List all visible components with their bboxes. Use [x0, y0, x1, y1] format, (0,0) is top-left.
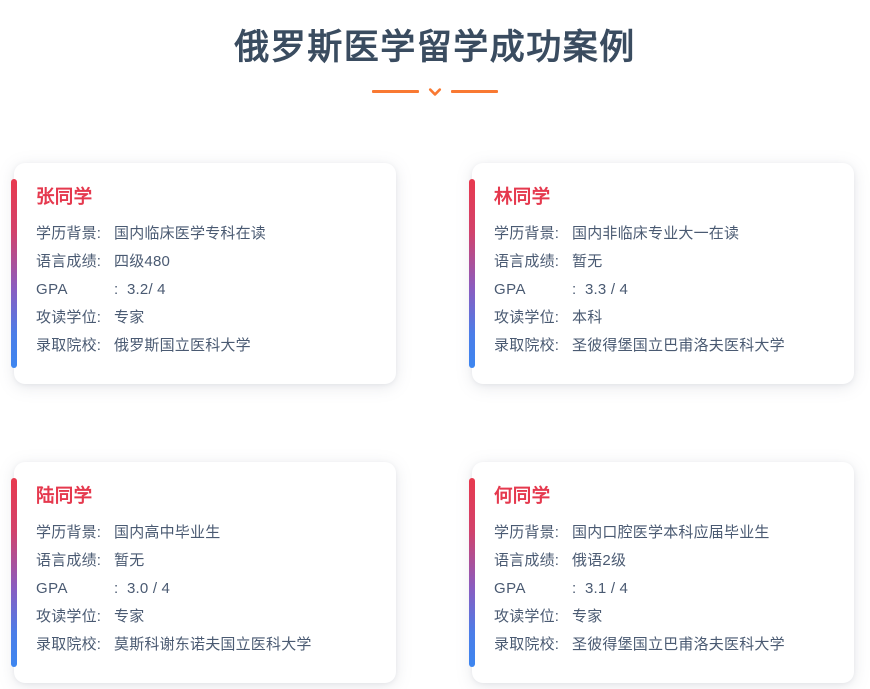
info-value-language: 暂无	[114, 547, 144, 575]
info-row-university: 录取院校: 莫斯科谢东诺夫国立医科大学	[36, 631, 376, 659]
card-accent-bar	[469, 179, 475, 368]
chevron-down-icon	[428, 85, 442, 99]
info-label-degree: 攻读学位:	[36, 304, 114, 332]
info-value-language: 四级480	[114, 248, 170, 276]
info-label-university: 录取院校:	[36, 631, 114, 659]
info-label-degree: 攻读学位:	[36, 603, 114, 631]
info-row-degree: 攻读学位: 专家	[36, 603, 376, 631]
student-name: 林同学	[494, 185, 834, 209]
info-value-gpa: 3.3 / 4	[585, 276, 628, 304]
info-row-gpa: GPA : 3.2/ 4	[36, 276, 376, 304]
divider-right-bar	[451, 90, 498, 93]
info-row-education: 学历背景: 国内口腔医学本科应届毕业生	[494, 519, 834, 547]
case-card[interactable]: 张同学 学历背景: 国内临床医学专科在读 语言成绩: 四级480 GPA : 3…	[14, 163, 396, 384]
case-card[interactable]: 陆同学 学历背景: 国内高中毕业生 语言成绩: 暂无 GPA : 3.0 / 4…	[14, 462, 396, 683]
info-row-language: 语言成绩: 俄语2级	[494, 547, 834, 575]
info-value-gpa: 3.1 / 4	[585, 575, 628, 603]
info-row-degree: 攻读学位: 本科	[494, 304, 834, 332]
info-value-education: 国内口腔医学本科应届毕业生	[572, 519, 770, 547]
info-value-degree: 专家	[114, 603, 144, 631]
info-label-degree: 攻读学位:	[494, 304, 572, 332]
student-name: 何同学	[494, 484, 834, 508]
page-root: 俄罗斯医学留学成功案例 张同学 学历背景: 国内临床医学专科在读 语言成绩:	[0, 0, 870, 689]
info-row-university: 录取院校: 圣彼得堡国立巴甫洛夫医科大学	[494, 631, 834, 659]
info-row-university: 录取院校: 圣彼得堡国立巴甫洛夫医科大学	[494, 332, 834, 360]
student-name: 陆同学	[36, 484, 376, 508]
title-divider	[0, 82, 870, 100]
case-card[interactable]: 何同学 学历背景: 国内口腔医学本科应届毕业生 语言成绩: 俄语2级 GPA :…	[472, 462, 854, 683]
info-value-university: 圣彼得堡国立巴甫洛夫医科大学	[572, 332, 785, 360]
info-row-education: 学历背景: 国内高中毕业生	[36, 519, 376, 547]
student-info-list: 学历背景: 国内临床医学专科在读 语言成绩: 四级480 GPA : 3.2/ …	[36, 220, 376, 360]
case-cards-grid: 张同学 学历背景: 国内临床医学专科在读 语言成绩: 四级480 GPA : 3…	[14, 163, 858, 683]
info-row-language: 语言成绩: 暂无	[494, 248, 834, 276]
info-colon-gpa: :	[114, 276, 127, 304]
info-value-degree: 专家	[114, 304, 144, 332]
card-accent-bar	[469, 478, 475, 667]
info-label-language: 语言成绩:	[36, 547, 114, 575]
info-label-education: 学历背景:	[36, 220, 114, 248]
card-accent-bar	[11, 478, 17, 667]
info-label-gpa: GPA	[36, 276, 114, 304]
info-row-education: 学历背景: 国内临床医学专科在读	[36, 220, 376, 248]
info-value-gpa: 3.0 / 4	[127, 575, 170, 603]
info-row-degree: 攻读学位: 专家	[494, 603, 834, 631]
info-value-language: 俄语2级	[572, 547, 626, 575]
info-label-gpa: GPA	[494, 575, 572, 603]
page-title: 俄罗斯医学留学成功案例	[0, 26, 870, 70]
info-label-university: 录取院校:	[36, 332, 114, 360]
info-value-education: 国内高中毕业生	[114, 519, 220, 547]
info-label-language: 语言成绩:	[494, 547, 572, 575]
info-value-university: 俄罗斯国立医科大学	[114, 332, 251, 360]
info-row-education: 学历背景: 国内非临床专业大一在读	[494, 220, 834, 248]
info-label-university: 录取院校:	[494, 332, 572, 360]
info-row-gpa: GPA : 3.3 / 4	[494, 276, 834, 304]
info-value-education: 国内临床医学专科在读	[114, 220, 266, 248]
info-label-degree: 攻读学位:	[494, 603, 572, 631]
info-value-education: 国内非临床专业大一在读	[572, 220, 739, 248]
info-row-language: 语言成绩: 四级480	[36, 248, 376, 276]
info-colon-gpa: :	[572, 575, 585, 603]
info-row-degree: 攻读学位: 专家	[36, 304, 376, 332]
info-value-university: 圣彼得堡国立巴甫洛夫医科大学	[572, 631, 785, 659]
info-row-gpa: GPA : 3.0 / 4	[36, 575, 376, 603]
info-label-education: 学历背景:	[494, 220, 572, 248]
info-value-degree: 本科	[572, 304, 602, 332]
student-info-list: 学历背景: 国内口腔医学本科应届毕业生 语言成绩: 俄语2级 GPA : 3.1…	[494, 519, 834, 659]
info-label-gpa: GPA	[36, 575, 114, 603]
info-row-university: 录取院校: 俄罗斯国立医科大学	[36, 332, 376, 360]
info-label-language: 语言成绩:	[494, 248, 572, 276]
info-value-language: 暂无	[572, 248, 602, 276]
page-header: 俄罗斯医学留学成功案例	[0, 0, 870, 100]
student-info-list: 学历背景: 国内非临床专业大一在读 语言成绩: 暂无 GPA : 3.3 / 4…	[494, 220, 834, 360]
info-value-university: 莫斯科谢东诺夫国立医科大学	[114, 631, 312, 659]
info-label-gpa: GPA	[494, 276, 572, 304]
info-colon-gpa: :	[114, 575, 127, 603]
info-label-university: 录取院校:	[494, 631, 572, 659]
info-label-education: 学历背景:	[494, 519, 572, 547]
card-accent-bar	[11, 179, 17, 368]
student-name: 张同学	[36, 185, 376, 209]
info-value-gpa: 3.2/ 4	[127, 276, 166, 304]
divider-left-bar	[372, 90, 419, 93]
info-row-language: 语言成绩: 暂无	[36, 547, 376, 575]
student-info-list: 学历背景: 国内高中毕业生 语言成绩: 暂无 GPA : 3.0 / 4 攻读学…	[36, 519, 376, 659]
info-row-gpa: GPA : 3.1 / 4	[494, 575, 834, 603]
info-label-education: 学历背景:	[36, 519, 114, 547]
case-card[interactable]: 林同学 学历背景: 国内非临床专业大一在读 语言成绩: 暂无 GPA : 3.3…	[472, 163, 854, 384]
info-value-degree: 专家	[572, 603, 602, 631]
info-colon-gpa: :	[572, 276, 585, 304]
info-label-language: 语言成绩:	[36, 248, 114, 276]
